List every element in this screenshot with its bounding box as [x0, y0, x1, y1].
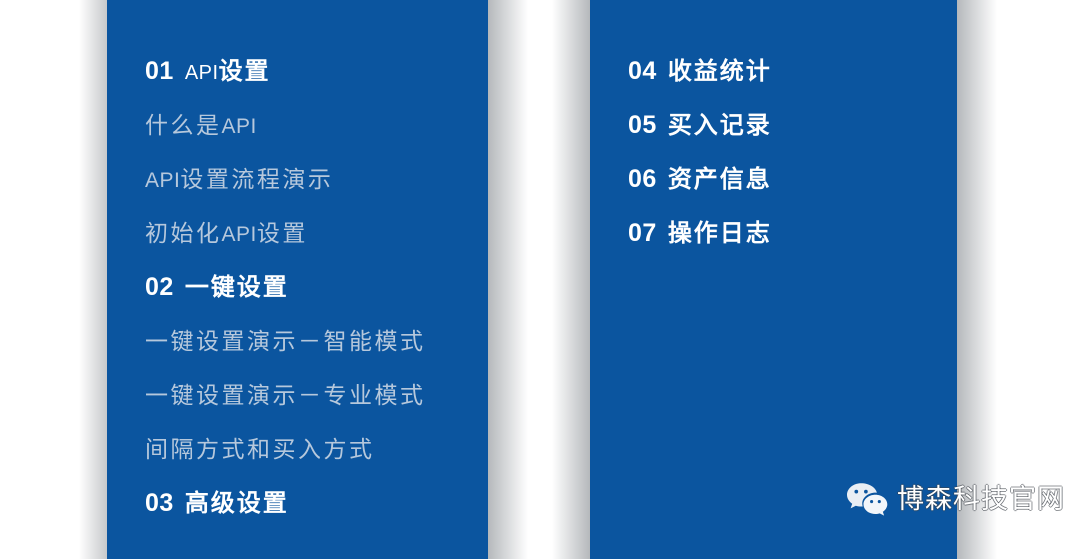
outline-item-sub[interactable]: 初始化API设置 — [145, 206, 488, 260]
outline-item-major[interactable]: 03高级设置 — [145, 476, 488, 530]
outline-item-title: 一键设置演示－智能模式 — [145, 314, 426, 368]
outline-item-number: 04 — [628, 44, 657, 98]
outline-item-title: 高级设置 — [185, 477, 289, 531]
outline-item-title: 操作日志 — [668, 207, 772, 261]
screenshot-stage: 01API设置什么是APIAPI设置流程演示初始化API设置02一键设置一键设置… — [0, 0, 1080, 559]
outline-item-major[interactable]: 05买入记录 — [628, 98, 957, 152]
outline-item-major[interactable]: 04收益统计 — [628, 44, 957, 98]
outline-item-sub[interactable]: 什么是API — [145, 98, 488, 152]
outline-item-number: 01 — [145, 44, 174, 98]
outline-item-title: 初始化API设置 — [145, 206, 308, 262]
outline-item-number: 07 — [628, 206, 657, 260]
outline-item-number: 06 — [628, 152, 657, 206]
outline-item-major[interactable]: 07操作日志 — [628, 206, 957, 260]
outline-title-cjk-run: 什么是 — [145, 112, 222, 138]
outline-item-title: 买入记录 — [668, 99, 772, 153]
outline-item-major[interactable]: 06资产信息 — [628, 152, 957, 206]
outline-item-title: API设置 — [185, 45, 271, 100]
outline-title-cjk-run: 初始化 — [145, 220, 222, 246]
outline-item-sub[interactable]: 一键设置演示－专业模式 — [145, 368, 488, 422]
panel-shadow-right-inner — [552, 0, 590, 559]
outline-item-major[interactable]: 02一键设置 — [145, 260, 488, 314]
outline-item-title: API设置流程演示 — [145, 152, 333, 208]
wechat-badge-label: 博森科技官网 — [897, 486, 1065, 513]
outline-item-number: 05 — [628, 98, 657, 152]
wechat-watermark-badge[interactable]: 博森科技官网 — [846, 476, 1065, 522]
outline-title-cjk-run: 设置 — [257, 220, 308, 246]
wechat-icon — [846, 481, 888, 517]
outline-list-right: 04收益统计05买入记录06资产信息07操作日志 — [590, 0, 957, 260]
outline-item-number: 02 — [145, 260, 174, 314]
panel-shadow-left — [79, 0, 107, 559]
outline-item-title: 间隔方式和买入方式 — [145, 422, 375, 476]
outline-item-title: 一键设置 — [185, 261, 289, 315]
outline-title-latin-run: API — [145, 169, 180, 192]
outline-item-sub[interactable]: 一键设置演示－智能模式 — [145, 314, 488, 368]
outline-title-latin-run: API — [222, 115, 257, 138]
outline-item-title: 一键设置演示－专业模式 — [145, 368, 426, 422]
outline-title-latin-run: API — [185, 62, 219, 84]
outline-title-latin-run: API — [222, 223, 257, 246]
outline-panel-left: 01API设置什么是APIAPI设置流程演示初始化API设置02一键设置一键设置… — [107, 0, 488, 559]
outline-item-sub[interactable]: 间隔方式和买入方式 — [145, 422, 488, 476]
outline-item-title: 什么是API — [145, 98, 257, 154]
outline-item-title: 资产信息 — [668, 153, 772, 207]
outline-list-left: 01API设置什么是APIAPI设置流程演示初始化API设置02一键设置一键设置… — [107, 0, 488, 530]
outline-title-cjk-run: 设置流程演示 — [180, 166, 333, 192]
outline-item-major[interactable]: 01API设置 — [145, 44, 488, 98]
outline-item-sub[interactable]: API设置流程演示 — [145, 152, 488, 206]
outline-item-number: 03 — [145, 476, 174, 530]
outline-title-cjk-run: 设置 — [219, 58, 271, 85]
panel-shadow-left-inner — [488, 0, 528, 559]
outline-item-title: 收益统计 — [668, 45, 772, 99]
